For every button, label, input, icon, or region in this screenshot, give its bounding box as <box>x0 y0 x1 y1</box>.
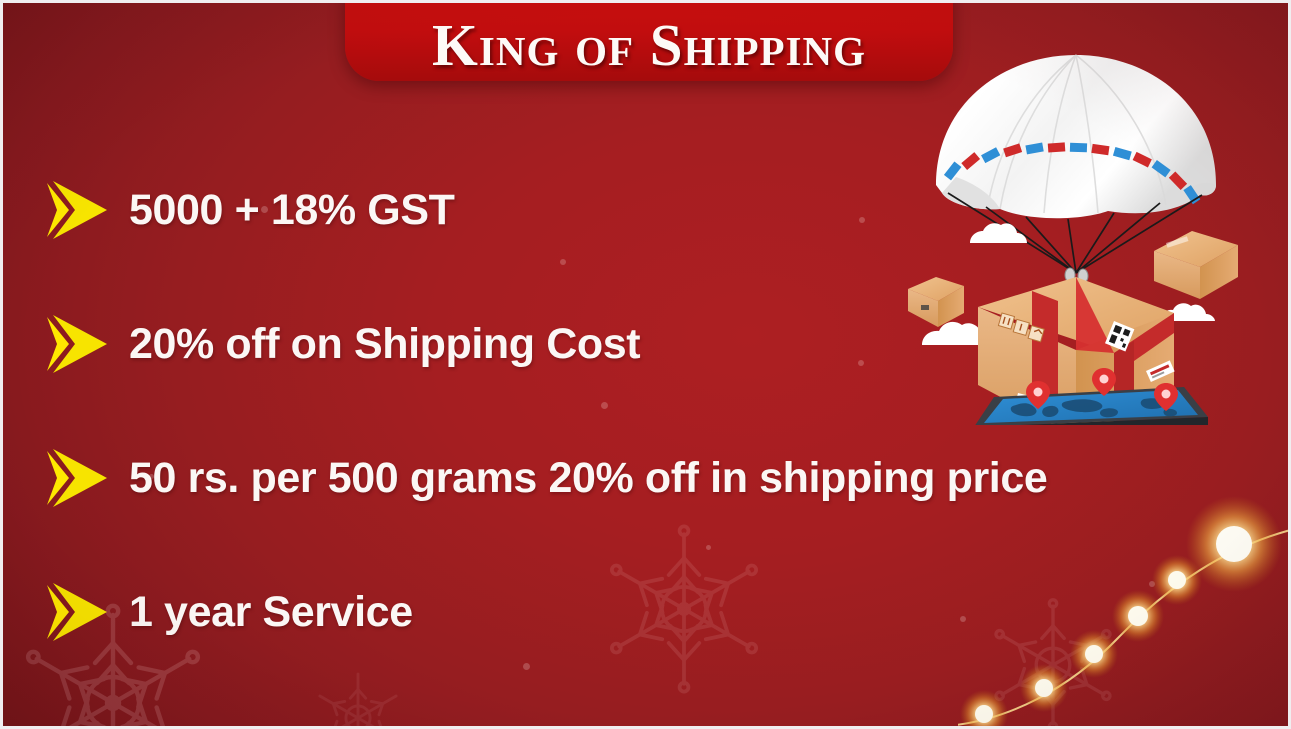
promo-banner: King of Shipping 5000 + 18% GST 20% off … <box>0 0 1291 729</box>
vignette-overlay <box>3 3 1288 726</box>
